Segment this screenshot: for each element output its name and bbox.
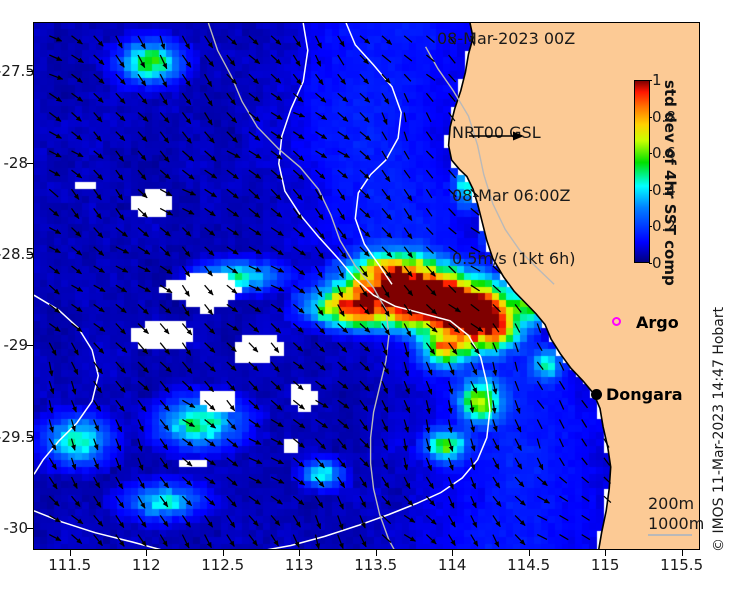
velocity-vector [360, 74, 369, 84]
velocity-vector [426, 132, 432, 140]
velocity-vector [293, 74, 301, 84]
velocity-vector [293, 247, 305, 255]
velocity-vector [426, 151, 433, 158]
argo-marker-icon [612, 317, 621, 326]
velocity-vector [160, 304, 171, 313]
velocity-vector [493, 496, 501, 506]
velocity-vector [49, 304, 60, 312]
velocity-vector [382, 458, 388, 470]
velocity-vector [182, 515, 190, 527]
date-stamp-label: 08-Mar-2023 00Z [437, 29, 575, 48]
velocity-vector [249, 132, 260, 141]
velocity-vector [205, 170, 217, 178]
velocity-vector [160, 381, 169, 392]
velocity-vector [537, 362, 543, 370]
velocity-vector [426, 439, 430, 452]
velocity-vector [205, 55, 214, 67]
velocity-vector [205, 266, 213, 276]
velocity-vector [493, 477, 500, 488]
velocity-vector [382, 151, 387, 160]
velocity-vector [449, 535, 456, 546]
velocity-vector [271, 362, 279, 372]
velocity-vector [182, 132, 191, 144]
velocity-vector [249, 228, 261, 236]
velocity-vector [227, 400, 235, 410]
velocity-vector [316, 113, 327, 120]
velocity-vector [493, 515, 500, 526]
velocity-vector [560, 439, 564, 447]
velocity-vector [116, 515, 124, 527]
velocity-vector [249, 208, 260, 217]
velocity-vector [182, 55, 191, 67]
velocity-vector [449, 477, 454, 489]
velocity-vector [293, 400, 304, 409]
velocity-vector [338, 170, 348, 178]
velocity-vector [360, 228, 370, 237]
velocity-vector [138, 247, 150, 254]
velocity-vector [426, 247, 433, 254]
velocity-vector [537, 439, 540, 449]
velocity-vector [471, 458, 475, 470]
velocity-vector [316, 228, 325, 239]
velocity-vector [72, 132, 82, 140]
velocity-vector [382, 343, 387, 356]
velocity-vector [338, 343, 347, 353]
x-axis-tick-label: 113.5 [354, 556, 397, 574]
velocity-vector [94, 477, 100, 488]
velocity-vector [182, 93, 190, 104]
y-axis-tick-mark [27, 71, 33, 72]
velocity-vector [116, 343, 127, 353]
velocity-vector [560, 362, 564, 371]
velocity-vector [382, 477, 389, 488]
x-axis-tick-label: 114.5 [507, 556, 550, 574]
velocity-vector [138, 458, 143, 470]
source-line-speed: 0.5m/s (1kt 6h) [452, 248, 575, 269]
velocity-vector [49, 343, 56, 356]
velocity-vector [471, 324, 483, 332]
velocity-vector [116, 74, 126, 84]
velocity-vector [160, 285, 172, 293]
velocity-vector [404, 439, 406, 451]
velocity-vector [205, 515, 213, 527]
velocity-vector [249, 324, 259, 333]
velocity-vector [94, 285, 105, 291]
velocity-vector [138, 535, 146, 547]
velocity-vector [316, 266, 323, 278]
velocity-vector [293, 343, 302, 352]
velocity-vector [160, 535, 167, 547]
velocity-vector [72, 400, 77, 412]
velocity-vector [182, 208, 194, 214]
velocity-vector [426, 420, 428, 433]
velocity-vector [227, 132, 238, 143]
velocity-vector [116, 496, 124, 507]
velocity-vector [94, 170, 103, 180]
y-axis-tick-label: -27.5 [0, 62, 28, 80]
velocity-vector [537, 343, 542, 351]
y-axis-tick-mark [27, 528, 33, 529]
velocity-vector [94, 515, 103, 526]
velocity-vector [49, 247, 60, 253]
velocity-vector [160, 420, 169, 431]
velocity-vector [138, 420, 143, 432]
colorbar-tick-label: 0 [652, 254, 662, 272]
velocity-vector [182, 151, 193, 161]
velocity-vector [360, 362, 370, 371]
velocity-vector [271, 400, 282, 410]
velocity-vector [471, 343, 479, 354]
velocity-vector [116, 285, 127, 292]
velocity-vector [49, 285, 59, 294]
velocity-vector [537, 324, 540, 333]
velocity-vector [515, 458, 522, 469]
velocity-vector [360, 400, 368, 411]
velocity-vector [360, 151, 370, 160]
velocity-vector [316, 381, 327, 389]
velocity-vector [537, 477, 547, 486]
velocity-vector [493, 381, 496, 394]
velocity-vector [404, 36, 412, 43]
velocity-vector [382, 36, 392, 45]
velocity-vector [271, 132, 282, 139]
velocity-vector [404, 113, 406, 123]
velocity-vector [404, 55, 412, 61]
velocity-vector [360, 496, 366, 507]
velocity-vector [338, 324, 348, 333]
velocity-vector [160, 496, 168, 507]
velocity-vector [426, 208, 432, 216]
velocity-vector [72, 247, 82, 255]
velocity-vector [49, 189, 58, 197]
velocity-vector [182, 362, 192, 374]
velocity-vector [138, 170, 146, 180]
velocity-vector [49, 266, 59, 274]
velocity-vector [316, 324, 325, 334]
x-axis-tick-mark [299, 550, 300, 556]
velocity-vector [293, 132, 304, 139]
velocity-vector [72, 228, 81, 237]
velocity-vector [471, 535, 478, 547]
velocity-vector [227, 439, 238, 448]
velocity-vector [94, 189, 102, 200]
velocity-vector [205, 93, 213, 106]
velocity-vector [116, 247, 129, 253]
velocity-vector [360, 132, 371, 141]
velocity-vector [582, 400, 588, 408]
velocity-vector [138, 324, 149, 334]
velocity-vector [160, 151, 169, 162]
velocity-vector [72, 113, 82, 122]
velocity-vector [49, 400, 52, 413]
velocity-vector [271, 304, 283, 312]
velocity-vector [426, 400, 429, 413]
velocity-vector [360, 208, 370, 217]
map-plot-area[interactable] [33, 22, 700, 550]
velocity-vector [72, 362, 78, 375]
velocity-vector [471, 400, 473, 412]
velocity-vector [72, 36, 83, 44]
velocity-vector [249, 400, 259, 409]
velocity-vector [205, 132, 215, 143]
x-axis-tick-mark [223, 550, 224, 556]
velocity-vector [49, 381, 53, 394]
velocity-vector [426, 285, 436, 295]
velocity-vector [249, 343, 258, 352]
velocity-vector [160, 93, 167, 105]
velocity-vector [182, 400, 195, 407]
velocity-vector [316, 189, 323, 200]
velocity-vector [205, 535, 212, 548]
velocity-vector [249, 247, 261, 254]
velocity-vector [49, 362, 52, 376]
velocity-vector [293, 381, 303, 390]
velocity-vector [227, 343, 237, 352]
velocity-vector [293, 266, 305, 275]
source-info-block: NRT00 GSL 08-Mar 06:00Z 0.5m/s (1kt 6h) [452, 80, 575, 311]
colorbar-tick-label: 0.4 [652, 181, 676, 199]
velocity-vector [316, 208, 324, 219]
velocity-vector [404, 228, 412, 239]
velocity-vector [271, 324, 281, 334]
velocity-vector [205, 228, 215, 236]
colorbar: std dev of 4hr SST comp 00.20.40.60.81 [601, 62, 700, 287]
velocity-vector [227, 515, 235, 527]
velocity-vector [404, 400, 410, 412]
velocity-vector [72, 458, 76, 470]
velocity-vector [404, 74, 411, 81]
velocity-vector [116, 324, 126, 335]
velocity-vector [560, 496, 568, 501]
velocity-vector [560, 458, 565, 466]
velocity-vector [537, 458, 543, 470]
velocity-vector [293, 362, 303, 369]
velocity-vector [227, 228, 239, 236]
velocity-vector [94, 74, 104, 83]
velocity-vector [94, 343, 104, 354]
velocity-vector [138, 304, 148, 314]
velocity-vector [382, 324, 390, 335]
y-axis-tick-label: -28.5 [0, 245, 28, 263]
velocity-vector [227, 170, 239, 179]
velocity-vector [316, 496, 323, 507]
velocity-vector [493, 439, 499, 451]
velocity-vector [338, 247, 347, 258]
velocity-vector [449, 55, 456, 63]
velocity-vector [360, 36, 370, 44]
velocity-vector [116, 113, 125, 121]
velocity-vector [94, 36, 104, 46]
velocity-vector [94, 535, 103, 546]
velocity-vector [72, 515, 83, 523]
velocity-vector [72, 93, 83, 101]
velocity-vector [338, 477, 345, 488]
velocity-vector [249, 496, 260, 504]
velocity-vector [138, 362, 148, 373]
velocity-vector [360, 458, 369, 467]
velocity-vector [116, 381, 125, 392]
velocity-vector [94, 458, 99, 469]
velocity-vector [360, 381, 370, 391]
velocity-vector [49, 324, 60, 332]
velocity-vector [49, 439, 56, 451]
velocity-vector [227, 362, 236, 371]
velocity-vector [249, 74, 259, 83]
x-axis-tick-mark [682, 550, 683, 556]
velocity-vector [604, 458, 610, 466]
velocity-vector [360, 535, 366, 547]
velocity-vector [182, 304, 189, 316]
velocity-vector [426, 496, 434, 506]
colorbar-tick-label: 0.8 [652, 108, 676, 126]
velocity-vector [316, 36, 322, 48]
velocity-vector [449, 343, 457, 355]
velocity-vector [249, 151, 261, 158]
velocity-vector [205, 496, 215, 505]
velocity-vector [116, 132, 125, 141]
velocity-vector [227, 247, 238, 254]
velocity-vector [316, 362, 326, 370]
velocity-vector [249, 477, 262, 483]
velocity-vector [604, 439, 609, 448]
velocity-vector [426, 535, 436, 544]
velocity-vector [160, 113, 169, 123]
velocity-vector [160, 266, 172, 274]
velocity-vector [360, 343, 370, 352]
x-axis-tick-label: 115 [591, 556, 620, 574]
velocity-vector [227, 113, 237, 123]
velocity-vector [382, 496, 391, 505]
velocity-vector [426, 113, 431, 122]
velocity-vector [404, 362, 408, 376]
velocity-vector [360, 515, 365, 528]
velocity-vector [316, 420, 328, 428]
velocity-vector [360, 477, 367, 487]
velocity-vector [205, 439, 216, 447]
velocity-vector [205, 247, 214, 256]
velocity-vector [49, 36, 61, 41]
velocity-vector [160, 247, 170, 256]
velocity-vector [138, 228, 149, 237]
velocity-vector [449, 420, 452, 433]
depth-label-200m: 200m [648, 494, 704, 514]
x-axis-tick-mark [529, 550, 530, 556]
velocity-vector [249, 458, 262, 464]
velocity-vector [160, 439, 167, 450]
velocity-vector [404, 170, 410, 178]
velocity-vector [426, 93, 433, 101]
velocity-vector [382, 74, 390, 83]
velocity-vector [316, 55, 321, 66]
velocity-vector [160, 36, 164, 49]
velocity-vector [227, 381, 235, 391]
velocity-vector [449, 324, 460, 333]
velocity-vector [404, 247, 412, 258]
velocity-vector [537, 420, 542, 429]
velocity-vector [94, 324, 105, 332]
x-axis-tick-mark [376, 550, 377, 556]
velocity-vector [449, 439, 453, 452]
velocity-vector [382, 285, 389, 297]
velocity-vector [49, 55, 62, 61]
velocity-vector [94, 208, 102, 218]
velocity-vector [116, 266, 128, 272]
velocity-vector [449, 400, 452, 413]
velocity-vector [382, 189, 391, 200]
velocity-vector [94, 151, 103, 159]
x-axis-tick-label: 115.5 [660, 556, 703, 574]
velocity-vector [227, 420, 236, 430]
velocity-vector [404, 151, 409, 159]
velocity-vector [560, 381, 565, 389]
velocity-vector [338, 113, 348, 122]
x-axis-tick-mark [605, 550, 606, 556]
velocity-vector [271, 247, 283, 255]
velocity-vector [293, 151, 304, 161]
velocity-vector [338, 439, 347, 450]
velocity-vector [316, 285, 322, 297]
velocity-vector [404, 304, 412, 315]
colorbar-tick-mark [649, 226, 652, 227]
velocity-vector [182, 74, 190, 86]
velocity-vector [138, 208, 147, 217]
velocity-vector [293, 93, 303, 102]
velocity-vector [49, 458, 56, 470]
velocity-vector [271, 170, 282, 179]
depth-label-1000m: 1000m [648, 514, 704, 534]
velocity-vector [338, 36, 345, 47]
velocity-vector [160, 55, 167, 69]
velocity-vector [116, 420, 122, 432]
velocity-vector [138, 151, 146, 160]
velocity-vector [72, 496, 81, 506]
velocity-vector [94, 228, 103, 238]
velocity-vector [182, 266, 189, 277]
velocity-vector [271, 535, 278, 546]
colorbar-tick-mark [649, 263, 652, 264]
y-axis-tick-label: -29.5 [0, 428, 28, 446]
velocity-vector [94, 400, 101, 411]
velocity-vector [182, 343, 190, 356]
velocity-vector [471, 496, 476, 508]
velocity-vector [94, 113, 102, 122]
velocity-vector [138, 285, 150, 292]
velocity-vector [249, 439, 261, 445]
velocity-vector [205, 420, 216, 429]
velocity-vector [94, 132, 102, 142]
velocity-vector [227, 208, 239, 216]
velocity-vector [116, 362, 126, 373]
velocity-vector [72, 55, 84, 63]
velocity-vector [138, 496, 145, 508]
velocity-vector [604, 496, 611, 502]
vector-scale-arrow-icon [467, 128, 527, 144]
velocity-vector [293, 170, 304, 180]
y-axis-tick-mark [27, 345, 33, 346]
velocity-vector [72, 324, 83, 332]
x-axis-tick-label: 113 [285, 556, 314, 574]
velocity-vector [338, 228, 347, 239]
velocity-vector [515, 496, 525, 505]
velocity-vector [94, 304, 105, 312]
velocity-vector [271, 458, 283, 464]
velocity-vector [471, 515, 477, 527]
velocity-vector [227, 535, 235, 547]
velocity-vector [338, 74, 346, 84]
velocity-vector [426, 324, 437, 333]
velocity-vector [160, 400, 169, 411]
velocity-vector [515, 477, 524, 487]
